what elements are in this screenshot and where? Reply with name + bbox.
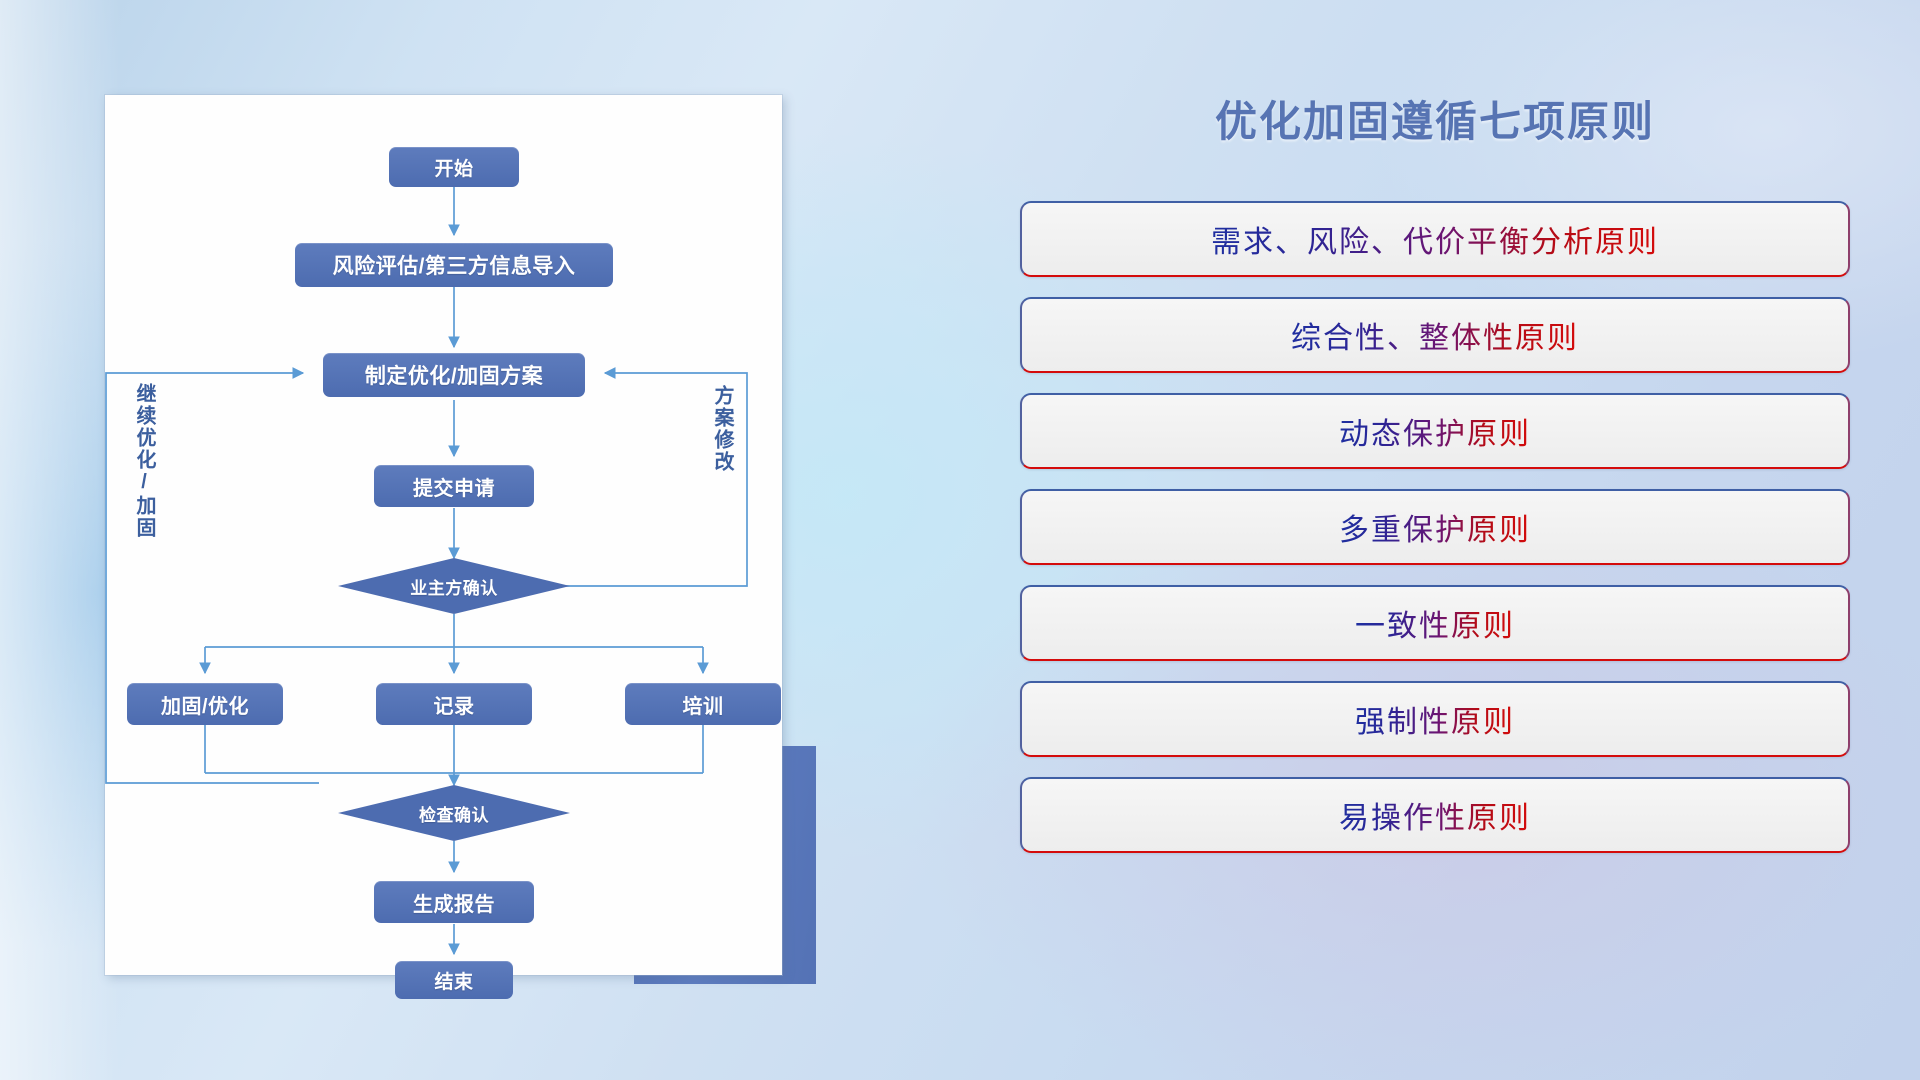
flow-node-end[interactable]: 结束 [395,961,513,999]
flow-node-training-label: 培训 [683,690,724,719]
principle-item-7[interactable]: 易操作性原则 [1020,777,1850,853]
flow-node-record-label: 记录 [434,690,475,719]
flow-node-report[interactable]: 生成报告 [374,881,534,923]
principle-item-2-label: 综合性、整体性原则 [1291,313,1579,357]
principle-item-1[interactable]: 需求、风险、代价平衡分析原则 [1020,201,1850,277]
principle-item-2[interactable]: 综合性、整体性原则 [1020,297,1850,373]
principle-item-1-label: 需求、风险、代价平衡分析原则 [1211,217,1659,261]
flow-node-training[interactable]: 培训 [625,683,781,725]
background-left-edge-light [0,0,120,1080]
principle-item-7-label: 易操作性原则 [1339,793,1531,837]
principle-item-6[interactable]: 强制性原则 [1020,681,1850,757]
flow-node-check-confirm[interactable]: 检查确认 [338,785,570,841]
flow-node-record[interactable]: 记录 [376,683,532,725]
flow-node-owner-confirm-label: 业主方确认 [410,574,498,599]
principle-item-3[interactable]: 动态保护原则 [1020,393,1850,469]
flow-node-reinforce[interactable]: 加固/优化 [127,683,283,725]
flow-node-plan-label: 制定优化/加固方案 [365,360,543,390]
flow-node-start[interactable]: 开始 [389,147,519,187]
flow-node-reinforce-label: 加固/优化 [161,690,249,719]
principle-item-3-label: 动态保护原则 [1339,409,1531,453]
flow-node-risk-assessment[interactable]: 风险评估/第三方信息导入 [295,243,613,287]
flowchart-card: 开始 风险评估/第三方信息导入 制定优化/加固方案 提交申请 业主方确认 加固/… [105,95,782,975]
principle-item-5-label: 一致性原则 [1355,601,1515,645]
principles-panel: 优化加固遵循七项原则 需求、风险、代价平衡分析原则 综合性、整体性原则 动态保护… [1020,88,1850,1008]
flow-node-start-label: 开始 [434,154,473,181]
principle-item-5[interactable]: 一致性原则 [1020,585,1850,661]
flow-edge-label-continue-optimize: 继续优化/加固 [133,383,154,553]
flow-node-submit-label: 提交申请 [413,472,495,501]
flow-node-end-label: 结束 [434,967,473,994]
principle-item-4[interactable]: 多重保护原则 [1020,489,1850,565]
flow-node-risk-assessment-label: 风险评估/第三方信息导入 [333,250,576,280]
principle-item-6-label: 强制性原则 [1355,697,1515,741]
flow-node-plan[interactable]: 制定优化/加固方案 [323,353,585,397]
principles-title: 优化加固遵循七项原则 [1020,88,1850,149]
flow-edge-label-plan-revision: 方案修改 [711,385,732,515]
principle-item-4-label: 多重保护原则 [1339,505,1531,549]
principles-list: 需求、风险、代价平衡分析原则 综合性、整体性原则 动态保护原则 多重保护原则 一… [1020,201,1850,853]
flow-node-submit[interactable]: 提交申请 [374,465,534,507]
flowchart-connectors [105,95,782,975]
flow-node-report-label: 生成报告 [413,888,495,917]
flow-node-owner-confirm[interactable]: 业主方确认 [338,558,570,614]
flow-node-check-confirm-label: 检查确认 [419,801,489,826]
